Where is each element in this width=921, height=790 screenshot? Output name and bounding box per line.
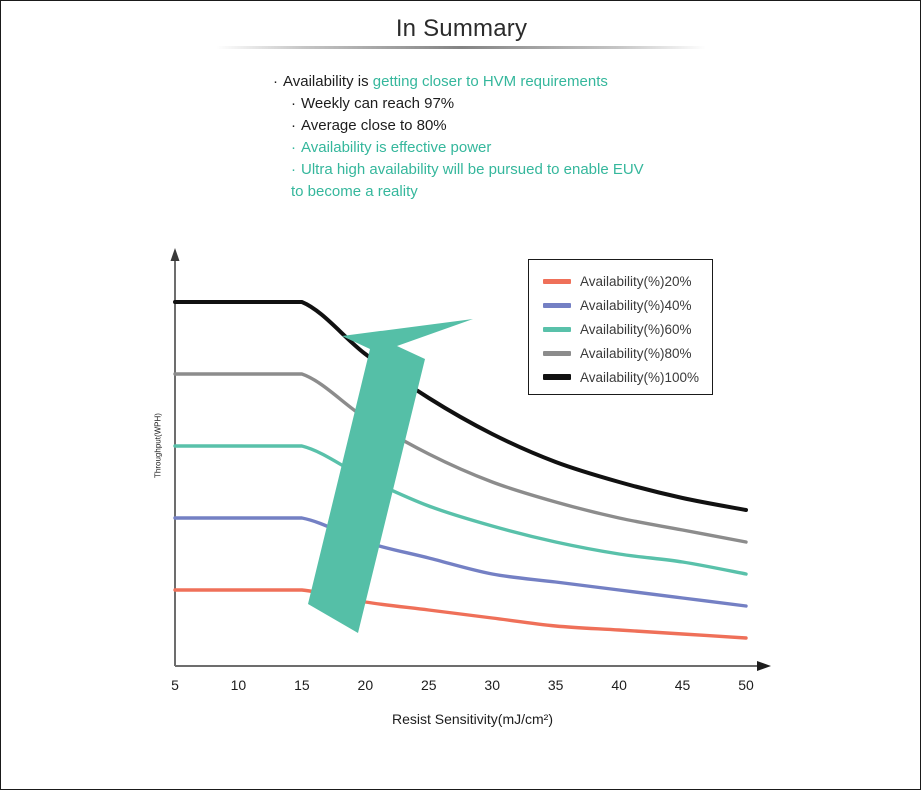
x-tick-label: 30 [472,677,512,693]
series-line [175,518,746,606]
x-tick-label: 25 [409,677,449,693]
legend-item[interactable]: Availability(%)80% [543,341,712,365]
chart-legend: Availability(%)20%Availability(%)40%Avai… [528,259,713,395]
legend-color-swatch [543,279,571,284]
legend-item-label: Availability(%)40% [580,298,692,313]
slide-canvas: In Summary ·Availability is getting clos… [0,0,921,790]
x-tick-label: 40 [599,677,639,693]
x-axis-title: Resist Sensitivity(mJ/cm²) [175,711,770,727]
legend-color-swatch [543,374,571,380]
y-axis-title: Throughput(WPH) [154,386,163,506]
y-axis-arrowhead [171,248,180,261]
x-tick-label: 15 [282,677,322,693]
legend-item-label: Availability(%)60% [580,322,692,337]
legend-item-label: Availability(%)20% [580,274,692,289]
legend-item-label: Availability(%)80% [580,346,692,361]
x-tick-label: 50 [726,677,766,693]
legend-color-swatch [543,303,571,308]
series-line [175,590,746,638]
legend-item[interactable]: Availability(%)20% [543,269,712,293]
legend-item-label: Availability(%)100% [580,370,699,385]
growth-arrow-annotation [308,319,473,633]
series-line [175,446,746,574]
x-tick-label: 10 [218,677,258,693]
x-tick-label: 5 [155,677,195,693]
legend-color-swatch [543,327,571,332]
x-tick-label: 20 [345,677,385,693]
legend-item[interactable]: Availability(%)60% [543,317,712,341]
legend-color-swatch [543,351,571,356]
x-tick-label: 45 [663,677,703,693]
legend-item[interactable]: Availability(%)100% [543,365,712,389]
x-axis-arrowhead [757,661,771,671]
x-tick-label: 35 [536,677,576,693]
chart-svg [1,1,921,790]
legend-item[interactable]: Availability(%)40% [543,293,712,317]
throughput-chart: 5101520253035404550 Resist Sensitivity(m… [1,1,921,790]
